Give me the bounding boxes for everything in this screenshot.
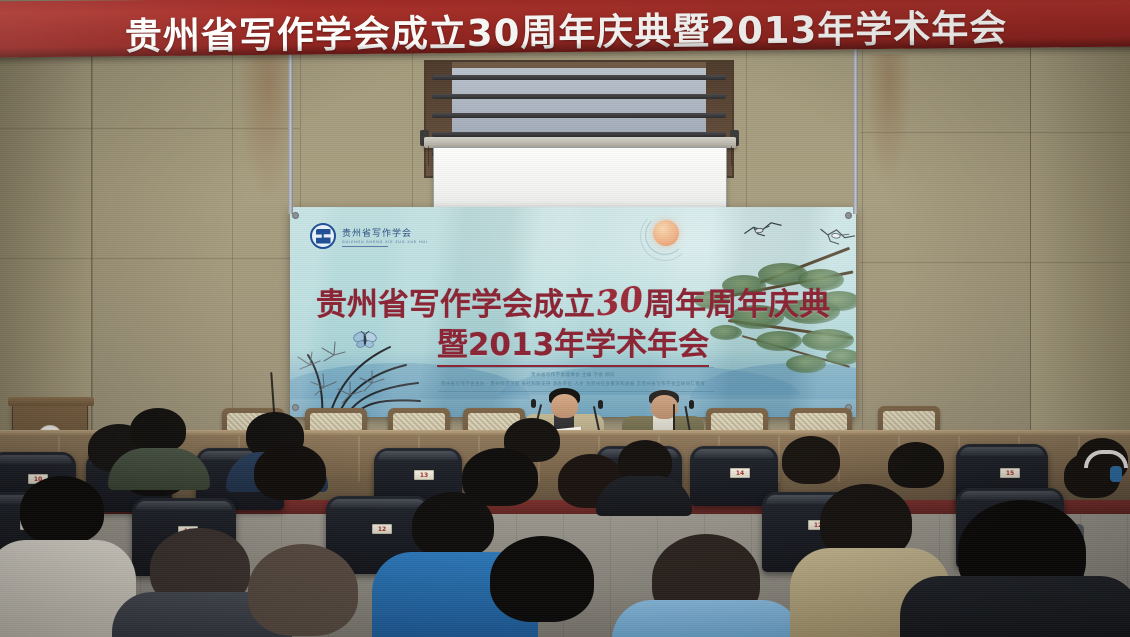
banner-grommet bbox=[292, 212, 299, 219]
wall-seam bbox=[92, 46, 93, 446]
wall-seam bbox=[860, 262, 1130, 263]
banner-subtitle-line-1: 贵州省写作学会理事会 主编 学会 顾问 bbox=[290, 372, 856, 378]
podium-top-ledge bbox=[8, 397, 94, 406]
association-logo: 贵州省写作学会 GUIZHOU SHENG XIE ZUO XUE HUI bbox=[310, 223, 428, 249]
wall-seam bbox=[0, 258, 296, 259]
slat-bar bbox=[432, 75, 726, 80]
logo-name-cn: 贵州省写作学会 bbox=[342, 226, 428, 239]
flying-crane-icon bbox=[741, 216, 786, 244]
slat-bar bbox=[432, 94, 726, 99]
wall-seam bbox=[1030, 52, 1031, 432]
seat-number: 12 bbox=[372, 524, 392, 534]
banner-subtitle-line-2: 贵州省写作学会主办 · 贵州师范学院 省社科联支持 承办单位 人才 为贵州社会繁… bbox=[290, 381, 856, 387]
microphone-head-left-2 bbox=[598, 400, 603, 409]
banner-title-line-2: 暨2013年学术年会 bbox=[290, 319, 856, 367]
wall-seam bbox=[862, 50, 863, 440]
sun-disc-icon bbox=[653, 220, 679, 246]
stage-backdrop-banner: 贵州省写作学会 GUIZHOU SHENG XIE ZUO XUE HUI 贵州… bbox=[290, 207, 856, 417]
projection-screen bbox=[433, 147, 727, 215]
screen-cord bbox=[731, 146, 732, 166]
microphone-head-left bbox=[531, 399, 536, 408]
wall-seam bbox=[232, 50, 233, 440]
banner-grommet bbox=[845, 212, 852, 219]
seat-number: 13 bbox=[414, 470, 434, 480]
conference-hall-photo: 贵州省写作学会 GUIZHOU SHENG XIE ZUO XUE HUI 贵州… bbox=[0, 0, 1130, 637]
wall-seam bbox=[300, 50, 301, 210]
banner-title-anniversary-number: 30 bbox=[594, 279, 646, 324]
logo-seal-icon bbox=[310, 223, 336, 249]
microphone-head-right bbox=[689, 400, 694, 409]
slat-bar bbox=[432, 113, 726, 118]
screen-cord bbox=[428, 146, 429, 166]
banner-title-part-b: 周年周年庆典 bbox=[644, 279, 830, 324]
banner-title-part-a: 贵州省写作学会成立 bbox=[316, 279, 595, 324]
headphone-earcup bbox=[1110, 466, 1122, 482]
logo-name-pinyin: GUIZHOU SHENG XIE ZUO XUE HUI bbox=[342, 240, 428, 244]
banner-hairline bbox=[438, 367, 714, 368]
flying-crane-icon bbox=[816, 221, 856, 249]
wall-seam bbox=[860, 132, 1130, 133]
wall-seam bbox=[412, 50, 413, 220]
seat-number: 14 bbox=[730, 468, 750, 478]
speaker-left-face bbox=[551, 394, 578, 418]
wall-seam bbox=[746, 50, 747, 220]
banner-grommet bbox=[292, 404, 299, 411]
banner-title-line-2-text: 暨2013年学术年会 bbox=[437, 319, 709, 367]
wall-seam bbox=[0, 128, 300, 129]
logo-rule bbox=[342, 246, 388, 247]
seat-number: 15 bbox=[1000, 468, 1020, 478]
banner-title-line-1: 贵州省写作学会成立30周年周年庆典 bbox=[290, 279, 856, 324]
